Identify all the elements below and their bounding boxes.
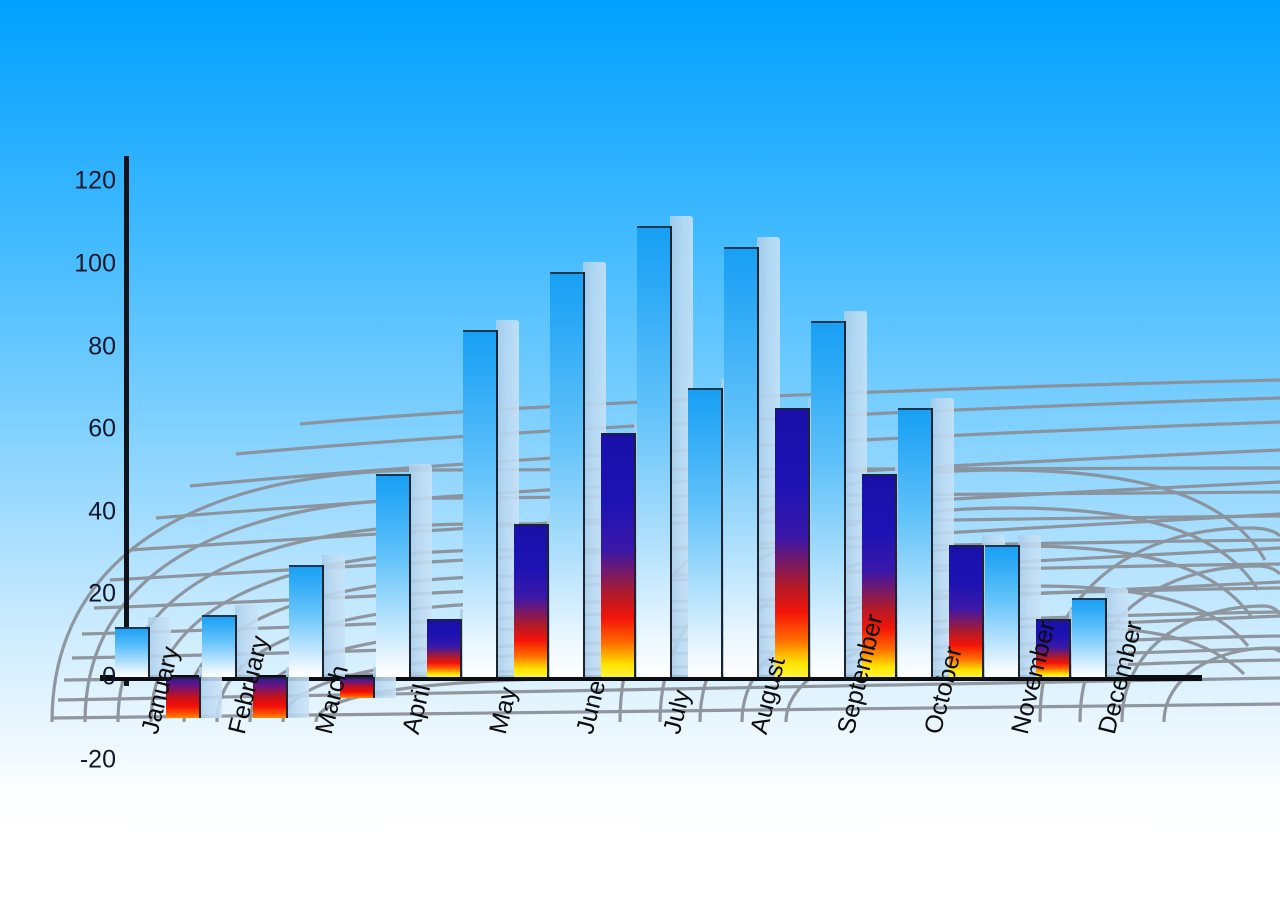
- bar-series1-march: [289, 565, 324, 677]
- bar-series1-december: [1072, 598, 1107, 677]
- x-axis-label-may: May: [484, 684, 524, 737]
- bar-series2-august: [775, 408, 810, 677]
- bar-top-edge: [985, 545, 1018, 547]
- bar-top-edge: [202, 615, 235, 617]
- x-axis-label-april: April: [397, 681, 437, 737]
- chart-canvas: 120 100 80 60 40 20 0 -20 JanuaryFebruar…: [0, 0, 1280, 905]
- bar-top-edge: [115, 627, 148, 629]
- bar-top-edge: [724, 247, 757, 249]
- bar-series2-june: [601, 433, 636, 677]
- x-axis-label-june: June: [571, 677, 612, 737]
- bar-series1-may: [463, 330, 498, 677]
- bar-top-edge: [862, 474, 895, 476]
- bar-top-edge: [688, 388, 721, 390]
- bar-top-edge: [289, 565, 322, 567]
- bar-top-edge: [1072, 598, 1105, 600]
- bar-top-edge: [637, 226, 670, 228]
- bar-top-edge: [949, 545, 982, 547]
- bar-series1-june: [550, 272, 585, 677]
- bar-series1-september: [811, 321, 846, 677]
- bar-top-edge: [898, 408, 931, 410]
- bar-series1-november: [985, 545, 1020, 677]
- bar-top-edge: [427, 619, 460, 621]
- bar-top-edge: [775, 408, 808, 410]
- bar-top-edge: [463, 330, 496, 332]
- bar-series2-july: [688, 388, 723, 677]
- bar-series1-january: [115, 627, 150, 677]
- bar-series2-april: [427, 619, 462, 677]
- bar-top-edge: [550, 272, 583, 274]
- bar-top-edge: [514, 524, 547, 526]
- bar-series2-may: [514, 524, 549, 677]
- bar-series1-february: [202, 615, 237, 677]
- bar-series1-july: [637, 226, 672, 677]
- bar-series1-october: [898, 408, 933, 677]
- bar-top-edge: [811, 321, 844, 323]
- bar-top-edge: [601, 433, 634, 435]
- bar-plot-area: JanuaryFebruaryMarchAprilMayJuneJulyAugu…: [0, 0, 1280, 905]
- bar-top-edge: [376, 474, 409, 476]
- bar-depth-b1-2: [322, 555, 345, 677]
- bar-series1-april: [376, 474, 411, 677]
- bar-series1-august: [724, 247, 759, 677]
- x-axis-label-july: July: [658, 687, 697, 737]
